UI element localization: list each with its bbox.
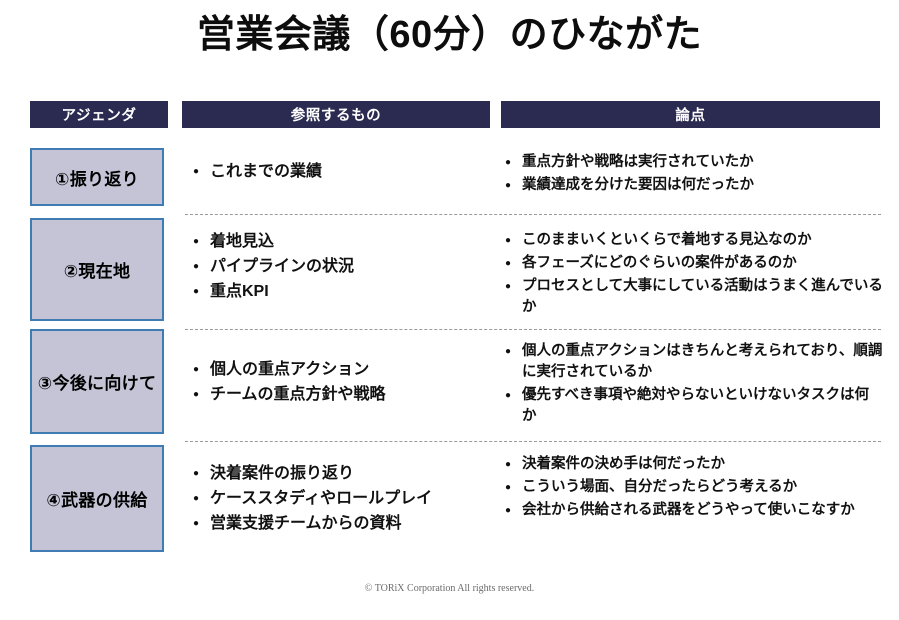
list-item: これまでの業績 bbox=[193, 160, 493, 183]
column-header-agenda: アジェンダ bbox=[30, 101, 168, 128]
points-list: このままいくといくらで着地する見込なのか各フェーズにどのぐらいの案件があるのかプ… bbox=[505, 230, 883, 318]
row-separator bbox=[185, 214, 881, 215]
agenda-chip-label: ③今後に向けて bbox=[38, 369, 157, 394]
references-list: 決着案件の振り返りケーススタディやロールプレイ営業支援チームからの資料 bbox=[193, 462, 493, 535]
list-item: こういう場面、自分だったらどう考えるか bbox=[505, 477, 883, 498]
list-item: 会社から供給される武器をどうやって使いこなすか bbox=[505, 500, 883, 521]
list-item: 各フェーズにどのぐらいの案件があるのか bbox=[505, 253, 883, 274]
references-list: これまでの業績 bbox=[193, 160, 493, 183]
list-item: 決着案件の決め手は何だったか bbox=[505, 454, 883, 475]
list-item: 着地見込 bbox=[193, 230, 493, 253]
list-item: 重点KPI bbox=[193, 280, 493, 303]
references-cell: これまでの業績 bbox=[193, 160, 493, 185]
agenda-chip[interactable]: ①振り返り bbox=[30, 148, 164, 206]
agenda-chip[interactable]: ④武器の供給 bbox=[30, 445, 164, 552]
row-separator bbox=[185, 329, 881, 330]
points-cell: 個人の重点アクションはきちんと考えられており、順調に実行されているか優先すべき事… bbox=[505, 341, 883, 429]
references-list: 個人の重点アクションチームの重点方針や戦略 bbox=[193, 358, 493, 406]
list-item: 営業支援チームからの資料 bbox=[193, 512, 493, 535]
references-cell: 個人の重点アクションチームの重点方針や戦略 bbox=[193, 358, 493, 408]
points-cell: 決着案件の決め手は何だったかこういう場面、自分だったらどう考えるか会社から供給さ… bbox=[505, 454, 883, 523]
list-item: 優先すべき事項や絶対やらないといけないタスクは何か bbox=[505, 385, 883, 427]
list-item: 業績達成を分けた要因は何だったか bbox=[505, 175, 883, 196]
list-item: パイプラインの状況 bbox=[193, 255, 493, 278]
references-list: 着地見込パイプラインの状況重点KPI bbox=[193, 230, 493, 303]
list-item: 決着案件の振り返り bbox=[193, 462, 493, 485]
list-item: 個人の重点アクションはきちんと考えられており、順調に実行されているか bbox=[505, 341, 883, 383]
agenda-chip-label: ②現在地 bbox=[64, 257, 131, 282]
agenda-table: ①振り返りこれまでの業績重点方針や戦略は実行されていたか業績達成を分けた要因は何… bbox=[0, 142, 899, 562]
row-separator bbox=[185, 441, 881, 442]
points-cell: 重点方針や戦略は実行されていたか業績達成を分けた要因は何だったか bbox=[505, 152, 883, 198]
list-item: このままいくといくらで着地する見込なのか bbox=[505, 230, 883, 251]
list-item: 個人の重点アクション bbox=[193, 358, 493, 381]
list-item: ケーススタディやロールプレイ bbox=[193, 487, 493, 510]
points-list: 個人の重点アクションはきちんと考えられており、順調に実行されているか優先すべき事… bbox=[505, 341, 883, 427]
points-cell: このままいくといくらで着地する見込なのか各フェーズにどのぐらいの案件があるのかプ… bbox=[505, 230, 883, 320]
references-cell: 決着案件の振り返りケーススタディやロールプレイ営業支援チームからの資料 bbox=[193, 462, 493, 537]
list-item: 重点方針や戦略は実行されていたか bbox=[505, 152, 883, 173]
agenda-chip[interactable]: ②現在地 bbox=[30, 218, 164, 321]
footer-copyright: © TORiX Corporation All rights reserved. bbox=[0, 583, 899, 594]
points-list: 重点方針や戦略は実行されていたか業績達成を分けた要因は何だったか bbox=[505, 152, 883, 196]
column-header-points: 論点 bbox=[501, 101, 880, 128]
page-title: 営業会議（60分）のひながた bbox=[0, 14, 899, 57]
column-header-references: 参照するもの bbox=[182, 101, 490, 128]
list-item: プロセスとして大事にしている活動はうまく進んでいるか bbox=[505, 276, 883, 318]
references-cell: 着地見込パイプラインの状況重点KPI bbox=[193, 230, 493, 305]
points-list: 決着案件の決め手は何だったかこういう場面、自分だったらどう考えるか会社から供給さ… bbox=[505, 454, 883, 521]
agenda-chip[interactable]: ③今後に向けて bbox=[30, 329, 164, 434]
list-item: チームの重点方針や戦略 bbox=[193, 383, 493, 406]
agenda-chip-label: ④武器の供給 bbox=[46, 486, 147, 511]
agenda-chip-label: ①振り返り bbox=[55, 165, 139, 190]
